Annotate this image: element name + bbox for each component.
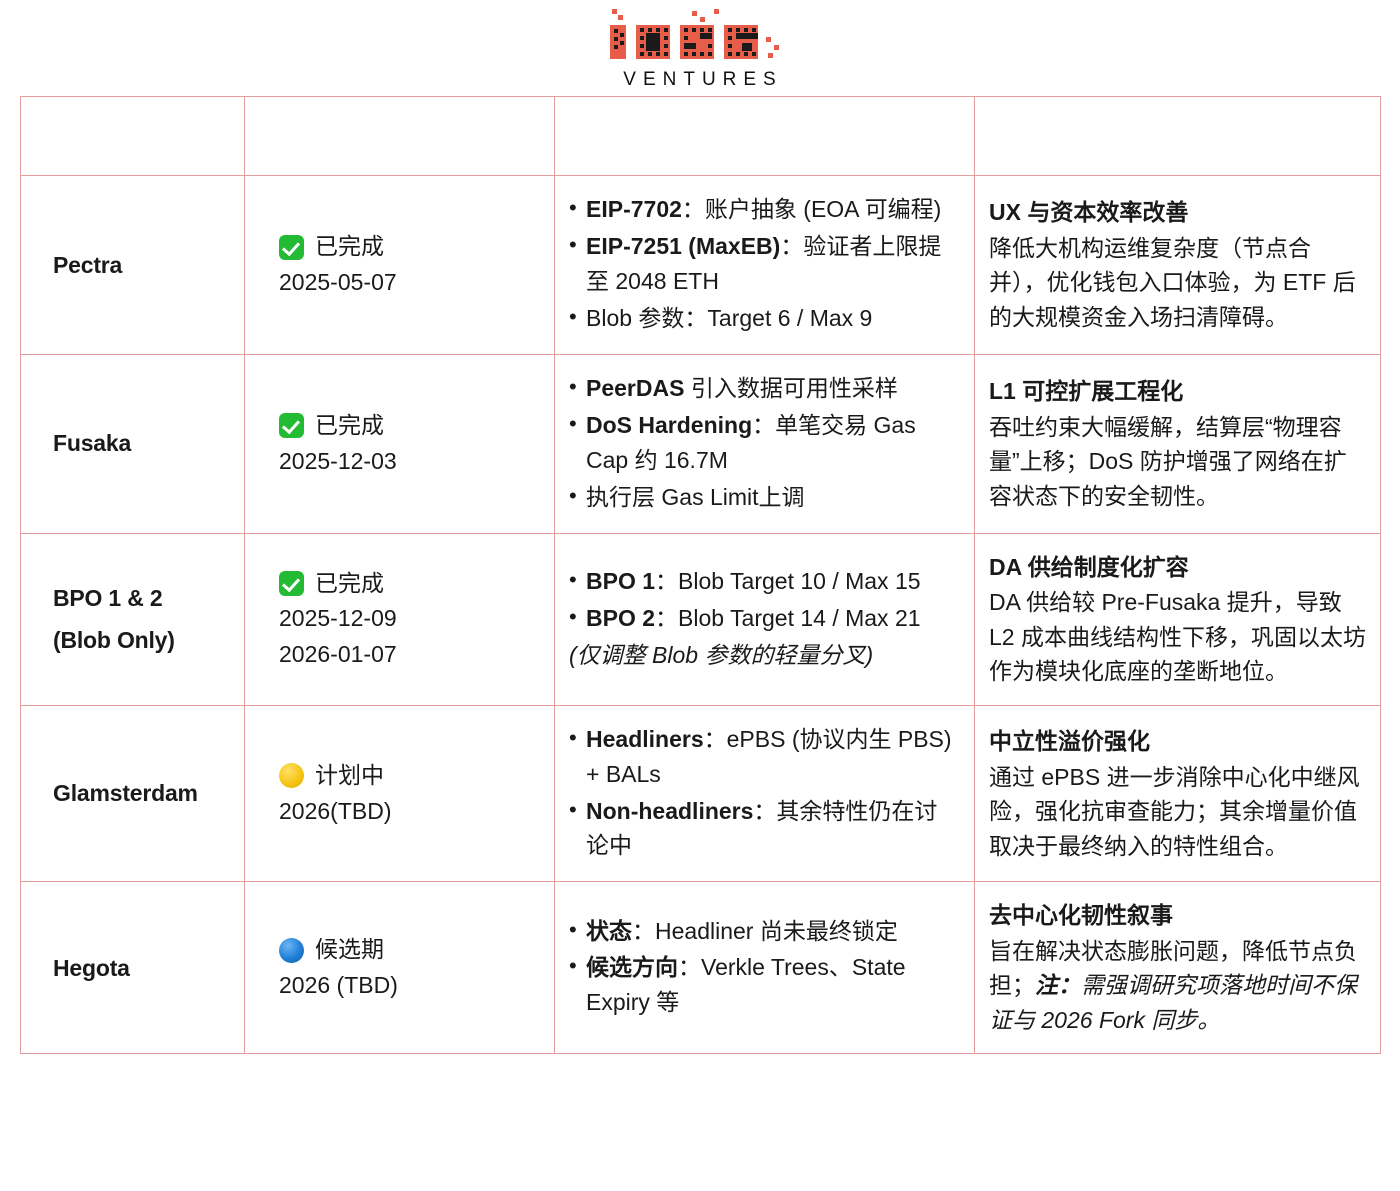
upgrade-name-sublabel: (Blob Only) bbox=[53, 627, 175, 653]
status-label: 已完成 bbox=[315, 229, 384, 265]
feature-separator: ： bbox=[780, 233, 803, 259]
impact-title: 去中心化韧性叙事 bbox=[989, 898, 1368, 933]
feature-term: DoS Hardening bbox=[586, 412, 752, 438]
status-date: 2026 (TBD) bbox=[279, 968, 540, 1004]
feature-text: Blob 参数：Target 6 / Max 9 bbox=[586, 305, 872, 331]
cell-valuation-impact: 中立性溢价强化通过 ePBS 进一步消除中心化中继风险，强化抗审查能力；其余增量… bbox=[975, 705, 1381, 882]
upgrade-name-label: BPO 1 & 2 bbox=[53, 585, 162, 611]
status-date: 2025-05-07 bbox=[279, 265, 540, 301]
feature-item: 候选方向：Verkle Trees、State Expiry 等 bbox=[569, 950, 958, 1020]
feature-list: EIP-7702：账户抽象 (EOA 可编程)EIP-7251 (MaxEB)：… bbox=[569, 192, 958, 336]
impact-body-text: DA 供给较 Pre-Fusaka 提升，导致 L2 成本曲线结构性下移，巩固以… bbox=[989, 589, 1366, 684]
cell-valuation-impact: DA 供给制度化扩容DA 供给较 Pre-Fusaka 提升，导致 L2 成本曲… bbox=[975, 533, 1381, 705]
feature-list: 状态：Headliner 尚未最终锁定候选方向：Verkle Trees、Sta… bbox=[569, 914, 958, 1021]
feature-text: 引入数据可用性采样 bbox=[691, 375, 898, 401]
feature-item: PeerDAS 引入数据可用性采样 bbox=[569, 371, 958, 406]
ethereum-upgrade-roadmap-table: 升级代号 状态 关键特性 估值与战略影响 Pectra已完成2025-05-07… bbox=[20, 96, 1381, 1054]
feature-separator: ： bbox=[655, 605, 678, 631]
blue-circle-icon bbox=[279, 938, 304, 963]
status-badge: 已完成 bbox=[279, 408, 540, 444]
feature-item: BPO 2：Blob Target 14 / Max 21 bbox=[569, 601, 958, 636]
impact-body: 吞吐约束大幅缓解，结算层“物理容量”上移；DoS 防护增强了网络在扩容状态下的安… bbox=[989, 410, 1368, 514]
impact-title: 中立性溢价强化 bbox=[989, 724, 1368, 759]
feature-separator: ： bbox=[753, 798, 776, 824]
impact-note-label: 注： bbox=[1035, 972, 1081, 998]
feature-item: DoS Hardening：单笔交易 Gas Cap 约 16.7M bbox=[569, 408, 958, 478]
table-row: Hegota候选期2026 (TBD)状态：Headliner 尚未最终锁定候选… bbox=[21, 882, 1381, 1054]
feature-item: Headliners：ePBS (协议内生 PBS) + BALs bbox=[569, 722, 958, 792]
cell-valuation-impact: UX 与资本效率改善降低大机构运维复杂度（节点合并），优化钱包入口体验，为 ET… bbox=[975, 176, 1381, 355]
impact-title: L1 可控扩展工程化 bbox=[989, 374, 1368, 409]
feature-text: 执行层 Gas Limit上调 bbox=[586, 484, 805, 510]
cell-valuation-impact: L1 可控扩展工程化吞吐约束大幅缓解，结算层“物理容量”上移；DoS 防护增强了… bbox=[975, 354, 1381, 533]
status-label: 候选期 bbox=[315, 932, 384, 968]
feature-term: EIP-7702 bbox=[586, 196, 682, 222]
impact-body-text: 降低大机构运维复杂度（节点合并），优化钱包入口体验，为 ETF 后的大规模资金入… bbox=[989, 235, 1356, 330]
feature-text: Blob Target 10 / Max 15 bbox=[678, 568, 921, 594]
feature-item: Blob 参数：Target 6 / Max 9 bbox=[569, 301, 958, 336]
feature-text: Headliner 尚未最终锁定 bbox=[655, 918, 898, 944]
feature-separator: ： bbox=[752, 412, 775, 438]
feature-separator: ： bbox=[632, 918, 655, 944]
cell-key-features: 状态：Headliner 尚未最终锁定候选方向：Verkle Trees、Sta… bbox=[555, 882, 975, 1054]
feature-separator: ： bbox=[678, 954, 701, 980]
green-check-icon bbox=[279, 413, 304, 438]
cell-status: 计划中2026(TBD) bbox=[245, 705, 555, 882]
feature-list: Headliners：ePBS (协议内生 PBS) + BALsNon-hea… bbox=[569, 722, 958, 864]
impact-body: 降低大机构运维复杂度（节点合并），优化钱包入口体验，为 ETF 后的大规模资金入… bbox=[989, 231, 1368, 335]
feature-term: 候选方向 bbox=[586, 954, 678, 980]
impact-title: DA 供给制度化扩容 bbox=[989, 550, 1368, 585]
impact-body: 通过 ePBS 进一步消除中心化中继风险，强化抗审查能力；其余增量价值取决于最终… bbox=[989, 760, 1368, 864]
feature-separator: ： bbox=[682, 196, 705, 222]
upgrade-name-label: Fusaka bbox=[53, 430, 131, 456]
brand-logo: VENTURES bbox=[0, 0, 1400, 96]
status-date: 2026-01-07 bbox=[279, 637, 540, 673]
cell-valuation-impact: 去中心化韧性叙事旨在解决状态膨胀问题，降低节点负担；注：需强调研究项落地时间不保… bbox=[975, 882, 1381, 1054]
feature-text: 账户抽象 (EOA 可编程) bbox=[705, 196, 941, 222]
feature-item: Non-headliners：其余特性仍在讨论中 bbox=[569, 794, 958, 864]
yellow-circle-icon bbox=[279, 763, 304, 788]
impact-body-text: 吞吐约束大幅缓解，结算层“物理容量”上移；DoS 防护增强了网络在扩容状态下的安… bbox=[989, 414, 1347, 509]
impact-body: DA 供给较 Pre-Fusaka 提升，导致 L2 成本曲线结构性下移，巩固以… bbox=[989, 585, 1368, 689]
table-body: Pectra已完成2025-05-07EIP-7702：账户抽象 (EOA 可编… bbox=[21, 176, 1381, 1054]
status-date: 2025-12-09 bbox=[279, 601, 540, 637]
feature-term: BPO 2 bbox=[586, 605, 655, 631]
status-badge: 已完成 bbox=[279, 229, 540, 265]
feature-term: EIP-7251 (MaxEB) bbox=[586, 233, 780, 259]
table-row: BPO 1 & 2(Blob Only)已完成2025-12-092026-01… bbox=[21, 533, 1381, 705]
cell-key-features: Headliners：ePBS (协议内生 PBS) + BALsNon-hea… bbox=[555, 705, 975, 882]
feature-term: Headliners bbox=[586, 726, 704, 752]
feature-list: PeerDAS 引入数据可用性采样DoS Hardening：单笔交易 Gas … bbox=[569, 371, 958, 515]
cell-upgrade-name: Fusaka bbox=[21, 354, 245, 533]
green-check-icon bbox=[279, 235, 304, 260]
feature-term: Non-headliners bbox=[586, 798, 753, 824]
upgrade-name-label: Glamsterdam bbox=[53, 780, 198, 806]
impact-body: 旨在解决状态膨胀问题，降低节点负担；注：需强调研究项落地时间不保证与 2026 … bbox=[989, 934, 1368, 1038]
brand-subtitle: VENTURES bbox=[623, 70, 782, 89]
feature-separator: ： bbox=[655, 568, 678, 594]
feature-term: BPO 1 bbox=[586, 568, 655, 594]
status-label: 已完成 bbox=[315, 566, 384, 602]
impact-body-text: 通过 ePBS 进一步消除中心化中继风险，强化抗审查能力；其余增量价值取决于最终… bbox=[989, 764, 1360, 859]
feature-item: 执行层 Gas Limit上调 bbox=[569, 480, 958, 515]
cell-upgrade-name: Hegota bbox=[21, 882, 245, 1054]
roadmap-table-container: 升级代号 状态 关键特性 估值与战略影响 Pectra已完成2025-05-07… bbox=[20, 96, 1380, 1054]
feature-note: (仅调整 Blob 参数的轻量分叉) bbox=[569, 638, 958, 673]
feature-list: BPO 1：Blob Target 10 / Max 15BPO 2：Blob … bbox=[569, 564, 958, 673]
cell-key-features: PeerDAS 引入数据可用性采样DoS Hardening：单笔交易 Gas … bbox=[555, 354, 975, 533]
upgrade-name-label: Pectra bbox=[53, 252, 122, 278]
status-label: 已完成 bbox=[315, 408, 384, 444]
table-header-row: 升级代号 状态 关键特性 估值与战略影响 bbox=[21, 97, 1381, 176]
feature-term: 状态 bbox=[586, 918, 632, 944]
feature-term: PeerDAS bbox=[586, 375, 684, 401]
cell-status: 已完成2025-12-03 bbox=[245, 354, 555, 533]
cell-key-features: BPO 1：Blob Target 10 / Max 15BPO 2：Blob … bbox=[555, 533, 975, 705]
feature-text: Blob Target 14 / Max 21 bbox=[678, 605, 921, 631]
cell-upgrade-name: Glamsterdam bbox=[21, 705, 245, 882]
status-date: 2026(TBD) bbox=[279, 794, 540, 830]
cell-upgrade-name: Pectra bbox=[21, 176, 245, 355]
column-header-upgrade-name: 升级代号 bbox=[21, 97, 245, 176]
table-row: Glamsterdam计划中2026(TBD)Headliners：ePBS (… bbox=[21, 705, 1381, 882]
impact-title: UX 与资本效率改善 bbox=[989, 195, 1368, 230]
column-header-status: 状态 bbox=[245, 97, 555, 176]
table-row: Fusaka已完成2025-12-03PeerDAS 引入数据可用性采样DoS … bbox=[21, 354, 1381, 533]
feature-item: EIP-7251 (MaxEB)：验证者上限提至 2048 ETH bbox=[569, 229, 958, 299]
status-date: 2025-12-03 bbox=[279, 444, 540, 480]
green-check-icon bbox=[279, 571, 304, 596]
cell-status: 候选期2026 (TBD) bbox=[245, 882, 555, 1054]
feature-item: EIP-7702：账户抽象 (EOA 可编程) bbox=[569, 192, 958, 227]
column-header-valuation-impact: 估值与战略影响 bbox=[975, 97, 1381, 176]
status-badge: 计划中 bbox=[279, 758, 540, 794]
column-header-key-features: 关键特性 bbox=[555, 97, 975, 176]
feature-item: 状态：Headliner 尚未最终锁定 bbox=[569, 914, 958, 949]
status-badge: 候选期 bbox=[279, 932, 540, 968]
cell-key-features: EIP-7702：账户抽象 (EOA 可编程)EIP-7251 (MaxEB)：… bbox=[555, 176, 975, 355]
cell-status: 已完成2025-12-092026-01-07 bbox=[245, 533, 555, 705]
feature-separator: ： bbox=[704, 726, 727, 752]
status-label: 计划中 bbox=[315, 758, 384, 794]
status-badge: 已完成 bbox=[279, 566, 540, 602]
upgrade-name-label: Hegota bbox=[53, 955, 130, 981]
cell-status: 已完成2025-05-07 bbox=[245, 176, 555, 355]
cell-upgrade-name: BPO 1 & 2(Blob Only) bbox=[21, 533, 245, 705]
table-row: Pectra已完成2025-05-07EIP-7702：账户抽象 (EOA 可编… bbox=[21, 176, 1381, 355]
iosg-pixel-logo-icon bbox=[596, 7, 804, 67]
feature-item: BPO 1：Blob Target 10 / Max 15 bbox=[569, 564, 958, 599]
